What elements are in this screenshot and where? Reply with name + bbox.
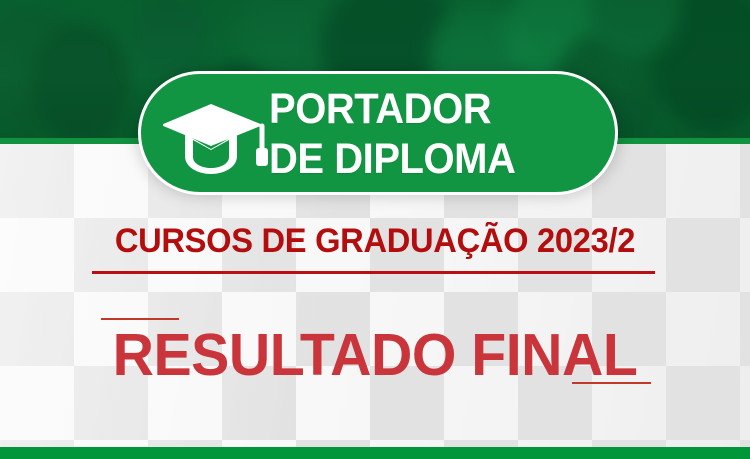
courses-line: CURSOS DE GRADUAÇÃO 2023/2 [15,222,735,260]
courses-lead-text: CURSOS DE [115,222,315,260]
result-line: RESULTADO FINAL [11,322,739,388]
badge-line-1: PORTADOR [269,84,515,134]
result-bottom-dash [572,382,651,384]
graduation-cap-icon [163,102,273,178]
courses-underline [92,271,655,274]
badge-text: PORTADOR DE DIPLOMA [269,84,515,184]
portador-de-diploma-badge: PORTADOR DE DIPLOMA [138,71,618,195]
headline-block: CURSOS DE GRADUAÇÃO 2023/2 RESULTADO FIN… [0,222,750,260]
footer-green-bar [0,447,750,459]
promotional-banner: PORTADOR DE DIPLOMA CURSOS DE GRADUAÇÃO … [0,0,750,459]
courses-strong-text: GRADUAÇÃO 2023/2 [315,222,635,260]
result-top-dash [101,318,179,320]
badge-line-2: DE DIPLOMA [269,134,515,184]
